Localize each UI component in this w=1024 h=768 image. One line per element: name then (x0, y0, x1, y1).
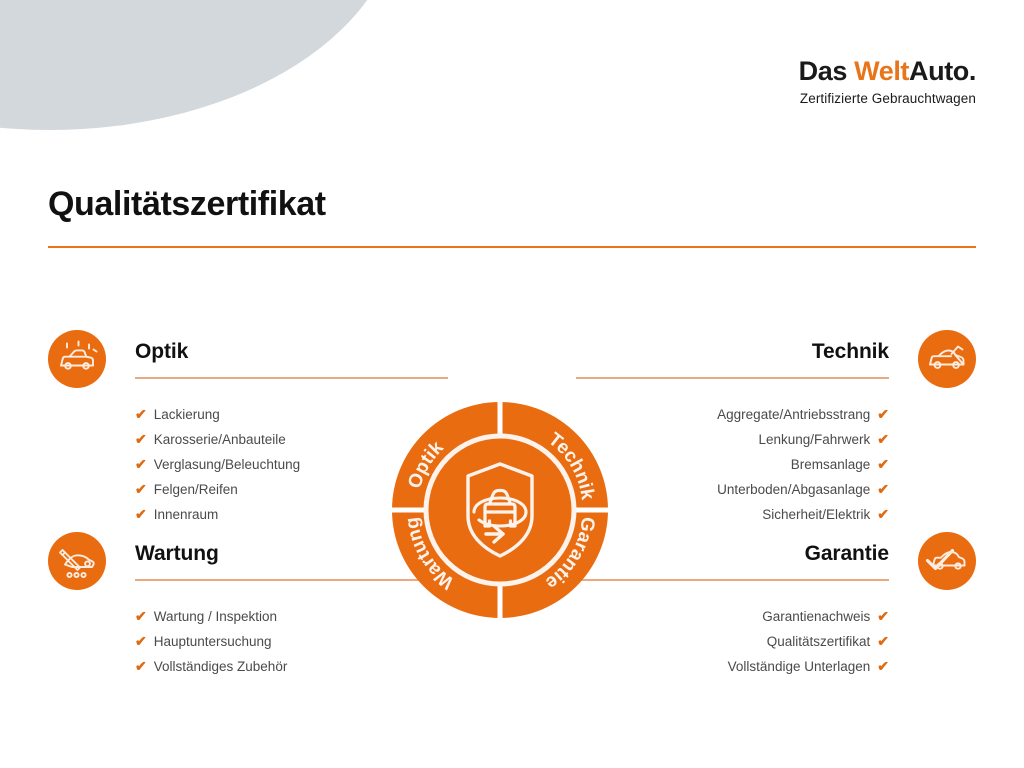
list-item: Vollständige Unterlagen✔ (576, 654, 889, 679)
check-icon: ✔ (135, 608, 147, 624)
checklist: Aggregate/Antriebsstrang✔ Lenkung/Fahrwe… (576, 402, 889, 527)
list-item-label: Vollständiges Zubehör (154, 659, 288, 674)
section-heading: Technik (812, 340, 889, 364)
brand-subtitle: Zertifizierte Gebrauchtwagen (799, 92, 976, 106)
brand-word-auto: Auto. (909, 56, 976, 86)
list-item-label: Felgen/Reifen (154, 482, 238, 497)
section-garantie: Garantie Garantienachweis✔ Qualitätszert… (576, 532, 976, 679)
section-header: Garantie (576, 532, 976, 604)
section-optik: Optik ✔Lackierung ✔Karosserie/Anbauteile… (48, 330, 448, 527)
list-item: Qualitätszertifikat✔ (576, 629, 889, 654)
list-item-label: Garantienachweis (762, 609, 870, 624)
list-item: Unterboden/Abgasanlage✔ (576, 477, 889, 502)
decorative-blob (0, 0, 400, 130)
section-divider (135, 377, 448, 379)
section-header: Optik (48, 330, 448, 402)
section-technik: Technik Aggregate/Antriebsstrang✔ Lenkun… (576, 330, 976, 527)
list-item-label: Lackierung (154, 407, 220, 422)
list-item: Sicherheit/Elektrik✔ (576, 502, 889, 527)
check-icon: ✔ (135, 406, 147, 422)
car-shine-icon (48, 330, 106, 388)
check-icon: ✔ (877, 456, 889, 472)
car-wrench-icon (48, 532, 106, 590)
list-item-label: Unterboden/Abgasanlage (717, 482, 870, 497)
list-item-label: Vollständige Unterlagen (728, 659, 871, 674)
list-item: Aggregate/Antriebsstrang✔ (576, 402, 889, 427)
list-item-label: Aggregate/Antriebsstrang (717, 407, 870, 422)
section-heading: Optik (135, 340, 188, 364)
list-item: Bremsanlage✔ (576, 452, 889, 477)
check-icon: ✔ (135, 431, 147, 447)
section-header: Technik (576, 330, 976, 402)
check-icon: ✔ (877, 506, 889, 522)
check-icon: ✔ (135, 633, 147, 649)
brand-word-welt: Welt (854, 56, 909, 86)
check-icon: ✔ (877, 608, 889, 624)
check-icon: ✔ (877, 481, 889, 497)
check-icon: ✔ (135, 658, 147, 674)
check-icon: ✔ (877, 633, 889, 649)
list-item-label: Innenraum (154, 507, 219, 522)
list-item-label: Lenkung/Fahrwerk (758, 432, 870, 447)
list-item-label: Qualitätszertifikat (767, 634, 871, 649)
section-heading: Wartung (135, 542, 219, 566)
list-item-label: Karosserie/Anbauteile (154, 432, 286, 447)
page-title: Qualitätszertifikat (48, 185, 326, 224)
section-header: Wartung (48, 532, 448, 604)
check-icon: ✔ (877, 406, 889, 422)
list-item-label: Verglasung/Beleuchtung (154, 457, 300, 472)
check-icon: ✔ (135, 481, 147, 497)
list-item-label: Sicherheit/Elektrik (762, 507, 870, 522)
title-divider (48, 246, 976, 248)
section-divider (576, 377, 889, 379)
list-item: ✔Hauptuntersuchung (135, 629, 448, 654)
quality-wheel-emblem: Optik Technik Garantie Wartung (390, 400, 610, 620)
list-item-label: Hauptuntersuchung (154, 634, 272, 649)
car-check-icon (918, 532, 976, 590)
list-item: Lenkung/Fahrwerk✔ (576, 427, 889, 452)
check-icon: ✔ (135, 506, 147, 522)
checklist: Garantienachweis✔ Qualitätszertifikat✔ V… (576, 604, 889, 679)
brand-logo: Das WeltAuto. Zertifizierte Gebrauchtwag… (799, 58, 976, 106)
section-divider (576, 579, 889, 581)
section-heading: Garantie (805, 542, 889, 566)
car-open-hood-icon (918, 330, 976, 388)
check-icon: ✔ (877, 431, 889, 447)
list-item: ✔Vollständiges Zubehör (135, 654, 448, 679)
check-icon: ✔ (877, 658, 889, 674)
brand-word-das: Das (799, 56, 854, 86)
brand-wordmark: Das WeltAuto. (799, 58, 976, 85)
check-icon: ✔ (135, 456, 147, 472)
list-item: Garantienachweis✔ (576, 604, 889, 629)
section-wartung: Wartung ✔Wartung / Inspektion ✔Hauptunte… (48, 532, 448, 679)
list-item-label: Bremsanlage (791, 457, 871, 472)
list-item-label: Wartung / Inspektion (154, 609, 277, 624)
